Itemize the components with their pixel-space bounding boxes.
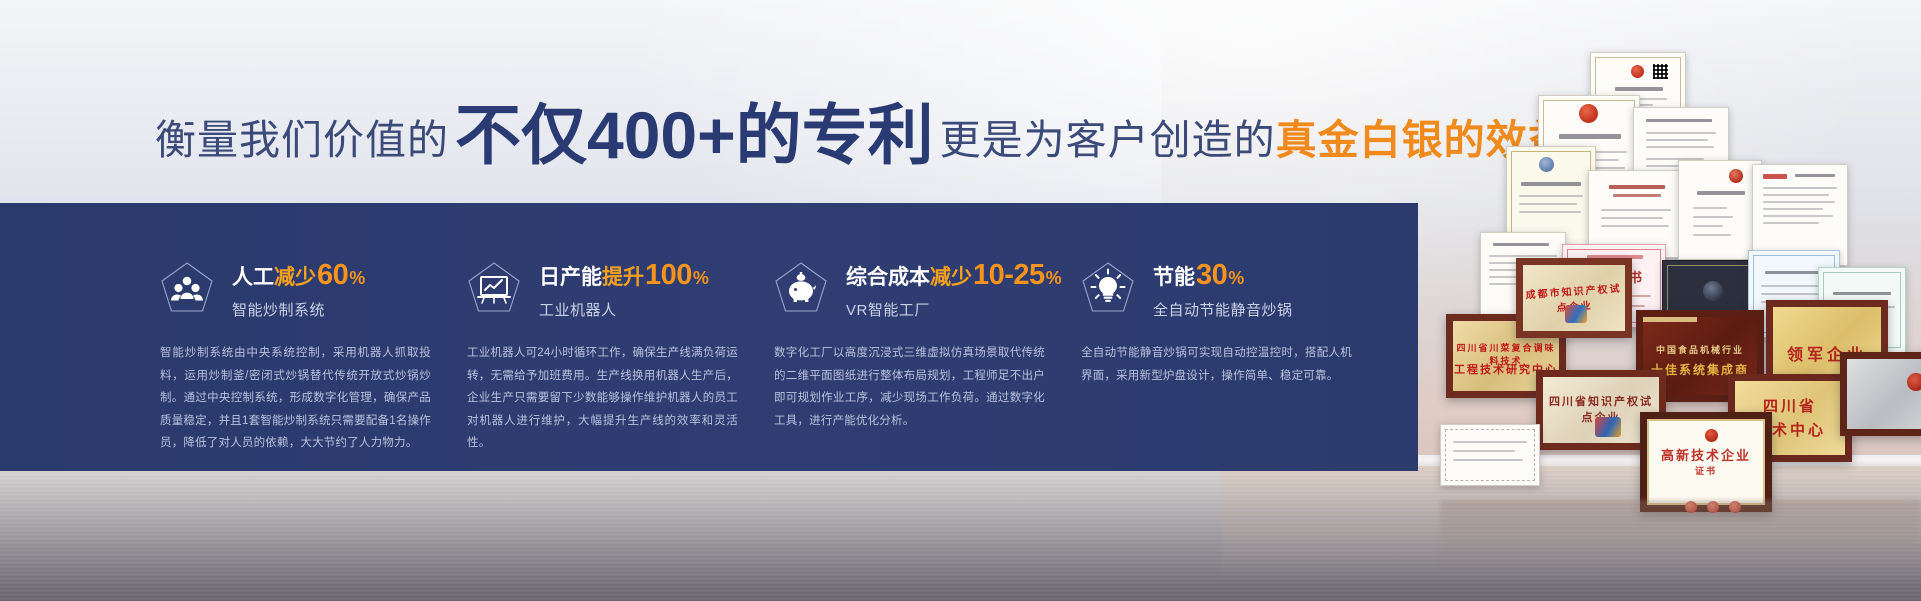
piggy-bank-icon <box>774 261 828 315</box>
feature-number: 10-25 <box>972 260 1045 290</box>
feature-label: 节能 <box>1153 267 1195 289</box>
red-seal-icon <box>1631 65 1644 78</box>
feature-subtitle: 工业机器人 <box>539 299 709 320</box>
headline-middle: 更是为客户创造的 <box>940 106 1276 166</box>
feature-number: 30 <box>1195 260 1227 290</box>
feature-verb: 减少 <box>930 267 972 289</box>
feature-verb: 减少 <box>274 267 316 289</box>
feature-number: 100 <box>644 260 692 290</box>
feature-subtitle: VR智能工厂 <box>846 299 1062 320</box>
feature-body: 工业机器人可24小时循环工作，确保生产线满负荷运转，无需给予加班费用。生产线换用… <box>467 342 738 454</box>
plaque-text-2: 证书 <box>1649 464 1763 477</box>
feature-header: 人工减少60% 智能炒制系统 <box>160 259 431 320</box>
lightbulb-icon <box>1081 261 1135 315</box>
feature-header: 综合成本减少10-25% VR智能工厂 <box>774 259 1045 320</box>
features-columns: 人工减少60% 智能炒制系统 智能炒制系统由中央系统控制，采用机器人抓取投料，运… <box>160 259 1390 455</box>
feature-percent: % <box>348 269 365 288</box>
logo-icon <box>1595 417 1621 437</box>
feature-column-energy: 节能30% 全自动节能静音炒锅 全自动节能静音炒锅可实现自动控温控时，搭配人机界… <box>1081 259 1388 455</box>
red-seal-icon <box>1729 169 1743 183</box>
qr-code-icon <box>1653 64 1668 79</box>
feature-body: 智能炒制系统由中央系统控制，采用机器人抓取投料，运用炒制釜/密闭式炒锅替代传统开… <box>160 342 431 454</box>
feature-label: 人工 <box>232 267 274 289</box>
people-group-icon <box>160 261 214 315</box>
features-panel: 人工减少60% 智能炒制系统 智能炒制系统由中央系统控制，采用机器人抓取投料，运… <box>0 203 1418 471</box>
award-plaque-highlight: 高新技术企业 证书 <box>1640 412 1772 512</box>
feature-label: 综合成本 <box>846 267 930 289</box>
feature-head-text: 日产能提升100% 工业机器人 <box>539 259 709 320</box>
feature-subtitle: 全自动节能静音炒锅 <box>1153 299 1293 320</box>
feature-body: 数字化工厂以高度沉浸式三维虚拟仿真场景取代传统的二维平面图纸进行整体布局规划，工… <box>774 342 1045 432</box>
award-plaque <box>1840 352 1921 436</box>
red-seal-icon <box>1705 429 1718 442</box>
feature-percent: % <box>1227 269 1244 288</box>
feature-stat: 人工减少60% <box>232 260 365 290</box>
red-seal-icon <box>1579 104 1598 123</box>
plaque-text: 中国食品机械行业 <box>1643 343 1757 356</box>
certificate-stack: 荣誉证书 四川省川菜复合调味料技术 工程技术研究中心 <box>1440 52 1921 522</box>
emblem-icon <box>1703 281 1723 301</box>
feature-head-text: 综合成本减少10-25% VR智能工厂 <box>846 259 1062 320</box>
feature-label: 日产能 <box>539 267 602 289</box>
headline-emphasis: 不仅400+的专利 <box>455 82 934 178</box>
feature-percent: % <box>692 269 709 288</box>
headline-prefix: 衡量我们价值的 <box>155 106 449 166</box>
certificate-reflection <box>1440 500 1921 586</box>
feature-column-labor: 人工减少60% 智能炒制系统 智能炒制系统由中央系统控制，采用机器人抓取投料，运… <box>160 259 467 455</box>
logo-icon <box>1565 305 1587 323</box>
chart-board-icon <box>467 261 521 315</box>
feature-column-capacity: 日产能提升100% 工业机器人 工业机器人可24小时循环工作，确保生产线满负荷运… <box>467 259 774 455</box>
feature-stat: 节能30% <box>1153 260 1293 290</box>
certificate-paper <box>1678 160 1762 260</box>
red-seal-icon <box>1907 373 1921 391</box>
certificate-paper <box>1440 424 1540 486</box>
feature-body: 全自动节能静音炒锅可实现自动控温控时，搭配人机界面，采用新型炉盘设计，操作简单、… <box>1081 342 1352 387</box>
feature-stat: 日产能提升100% <box>539 260 709 290</box>
award-plaque: 成都市知识产权试点企业 <box>1516 258 1632 338</box>
feature-subtitle: 智能炒制系统 <box>232 299 365 320</box>
emblem-icon <box>1539 157 1554 172</box>
feature-stat: 综合成本减少10-25% <box>846 260 1062 290</box>
feature-number: 60 <box>316 260 348 290</box>
feature-header: 节能30% 全自动节能静音炒锅 <box>1081 259 1352 320</box>
feature-column-cost: 综合成本减少10-25% VR智能工厂 数字化工厂以高度沉浸式三维虚拟仿真场景取… <box>774 259 1081 455</box>
feature-header: 日产能提升100% 工业机器人 <box>467 259 738 320</box>
feature-head-text: 人工减少60% 智能炒制系统 <box>232 259 365 320</box>
feature-percent: % <box>1045 269 1062 288</box>
headline: 衡量我们价值的 不仅400+的专利 更是为客户创造的 真金白银的效益 <box>155 78 1570 174</box>
banner-stage: 衡量我们价值的 不仅400+的专利 更是为客户创造的 真金白银的效益 <box>0 0 1921 601</box>
plaque-text: 高新技术企业 <box>1649 445 1763 464</box>
feature-head-text: 节能30% 全自动节能静音炒锅 <box>1153 259 1293 320</box>
feature-verb: 提升 <box>602 267 644 289</box>
